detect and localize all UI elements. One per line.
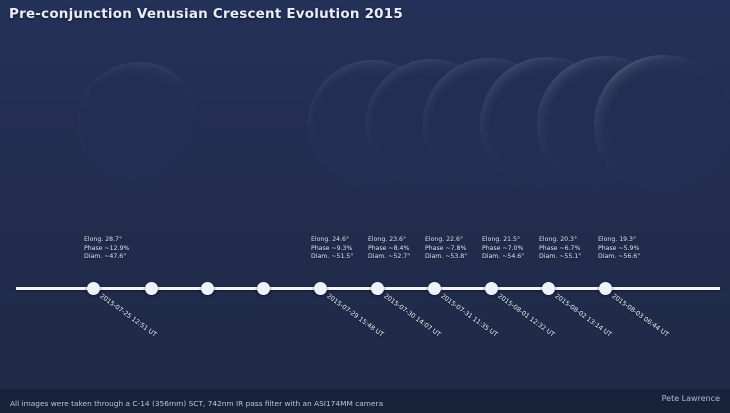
timeline-marker-10[interactable]: [599, 282, 612, 295]
venus-image-7: [594, 55, 730, 194]
timeline-date-1: 2015-07-25 12:51 UT: [98, 292, 158, 339]
venus-terminator-shadow: [78, 62, 200, 184]
phase-value: Phase ~12.9%: [84, 245, 129, 254]
page-title: Pre-conjunction Venusian Crescent Evolut…: [9, 6, 403, 22]
observation-info-1: Elong. 28.7° Phase ~12.9% Diam. ~47.6": [84, 236, 129, 262]
diameter-value: Diam. ~52.7": [368, 253, 410, 262]
phase-value: Phase ~6.7%: [539, 245, 581, 254]
phase-value: Phase ~7.8%: [425, 245, 467, 254]
timeline-marker-5[interactable]: [314, 282, 327, 295]
elongation-value: Elong. 21.5°: [482, 236, 524, 245]
phase-value: Phase ~8.4%: [368, 245, 410, 254]
diameter-value: Diam. ~54.6": [482, 253, 524, 262]
elongation-value: Elong. 23.6°: [368, 236, 410, 245]
diameter-value: Diam. ~47.6": [84, 253, 129, 262]
elongation-value: Elong. 24.6°: [311, 236, 353, 245]
observation-info-7: Elong. 19.3° Phase ~5.9% Diam. ~56.6": [598, 236, 640, 262]
elongation-value: Elong. 19.3°: [598, 236, 640, 245]
diameter-value: Diam. ~53.8": [425, 253, 467, 262]
timeline-marker-2[interactable]: [145, 282, 158, 295]
infographic-canvas: Pre-conjunction Venusian Crescent Evolut…: [0, 0, 730, 413]
timeline-axis: [16, 287, 720, 290]
observation-info-5: Elong. 21.5° Phase ~7.0% Diam. ~54.6": [482, 236, 524, 262]
observation-info-2: Elong. 24.6° Phase ~9.3% Diam. ~51.5": [311, 236, 353, 262]
timeline-date-4: 2015-07-31 11:35 UT: [439, 292, 499, 339]
elongation-value: Elong. 20.3°: [539, 236, 581, 245]
venus-terminator-shadow: [594, 55, 730, 194]
venus-image-1: [78, 62, 200, 184]
timeline-marker-8[interactable]: [485, 282, 498, 295]
timeline-date-2: 2015-07-29 15:48 UT: [325, 292, 385, 339]
timeline-date-7: 2015-08-03 06:44 UT: [610, 292, 670, 339]
observation-info-4: Elong. 22.6° Phase ~7.8% Diam. ~53.8": [425, 236, 467, 262]
diameter-value: Diam. ~51.5": [311, 253, 353, 262]
phase-value: Phase ~9.3%: [311, 245, 353, 254]
observation-info-6: Elong. 20.3° Phase ~6.7% Diam. ~55.1": [539, 236, 581, 262]
timeline-marker-9[interactable]: [542, 282, 555, 295]
phase-value: Phase ~5.9%: [598, 245, 640, 254]
elongation-value: Elong. 22.6°: [425, 236, 467, 245]
timeline-date-5: 2015-08-01 12:32 UT: [496, 292, 556, 339]
timeline-marker-7[interactable]: [428, 282, 441, 295]
photographer-credit: Pete Lawrence: [662, 394, 720, 403]
timeline-marker-3[interactable]: [201, 282, 214, 295]
timeline-marker-1[interactable]: [87, 282, 100, 295]
phase-value: Phase ~7.0%: [482, 245, 524, 254]
timeline-date-3: 2015-07-30 14:07 UT: [382, 292, 442, 339]
timeline-date-6: 2015-08-02 13:14 UT: [553, 292, 613, 339]
timeline-marker-4[interactable]: [257, 282, 270, 295]
equipment-note: All images were taken through a C-14 (35…: [10, 399, 383, 408]
diameter-value: Diam. ~56.6": [598, 253, 640, 262]
observation-info-3: Elong. 23.6° Phase ~8.4% Diam. ~52.7": [368, 236, 410, 262]
timeline-marker-6[interactable]: [371, 282, 384, 295]
elongation-value: Elong. 28.7°: [84, 236, 129, 245]
diameter-value: Diam. ~55.1": [539, 253, 581, 262]
